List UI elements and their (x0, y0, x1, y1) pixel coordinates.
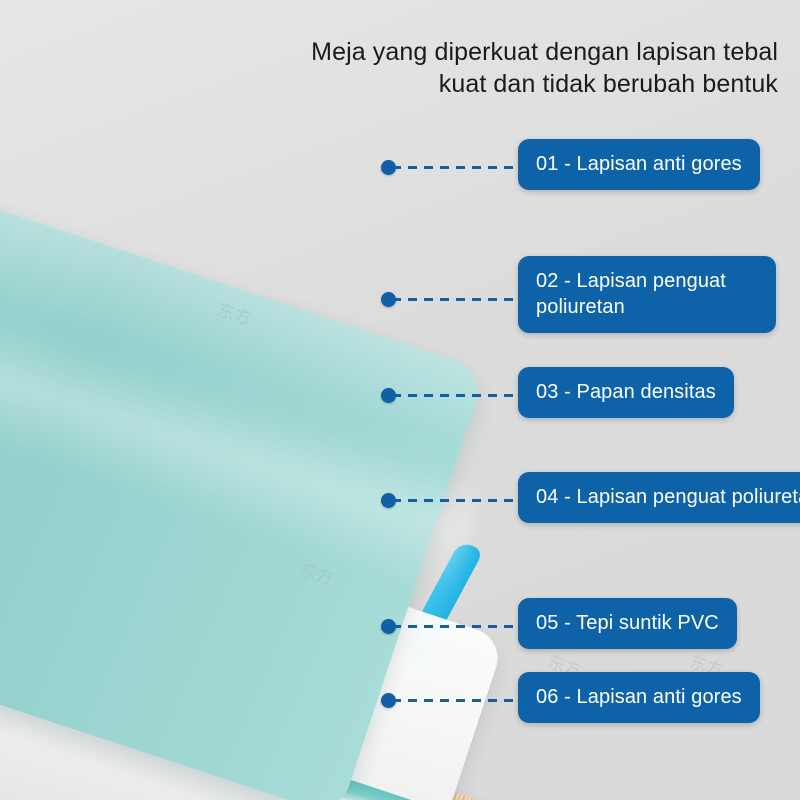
callout-leader-line (392, 394, 520, 397)
callout-leader-line (392, 625, 520, 628)
callout-label-02[interactable]: 02 - Lapisan penguat poliuretan (518, 256, 776, 333)
callout-leader-line (392, 699, 520, 702)
callout-label-04[interactable]: 04 - Lapisan penguat poliuretan (518, 472, 800, 523)
callout-label-05[interactable]: 05 - Tepi suntik PVC (518, 598, 737, 649)
callout-leader-line (392, 499, 520, 502)
callout-label-06[interactable]: 06 - Lapisan anti gores (518, 672, 760, 723)
product-infographic: 东方 东方 东方 东方 Meja yang diperkuat dengan l… (0, 0, 800, 800)
callout-leader-line (392, 298, 520, 301)
callout-label-03[interactable]: 03 - Papan densitas (518, 367, 734, 418)
page-title: Meja yang diperkuat dengan lapisan tebal… (233, 36, 778, 100)
callout-leader-line (392, 166, 520, 169)
callout-label-01[interactable]: 01 - Lapisan anti gores (518, 139, 760, 190)
